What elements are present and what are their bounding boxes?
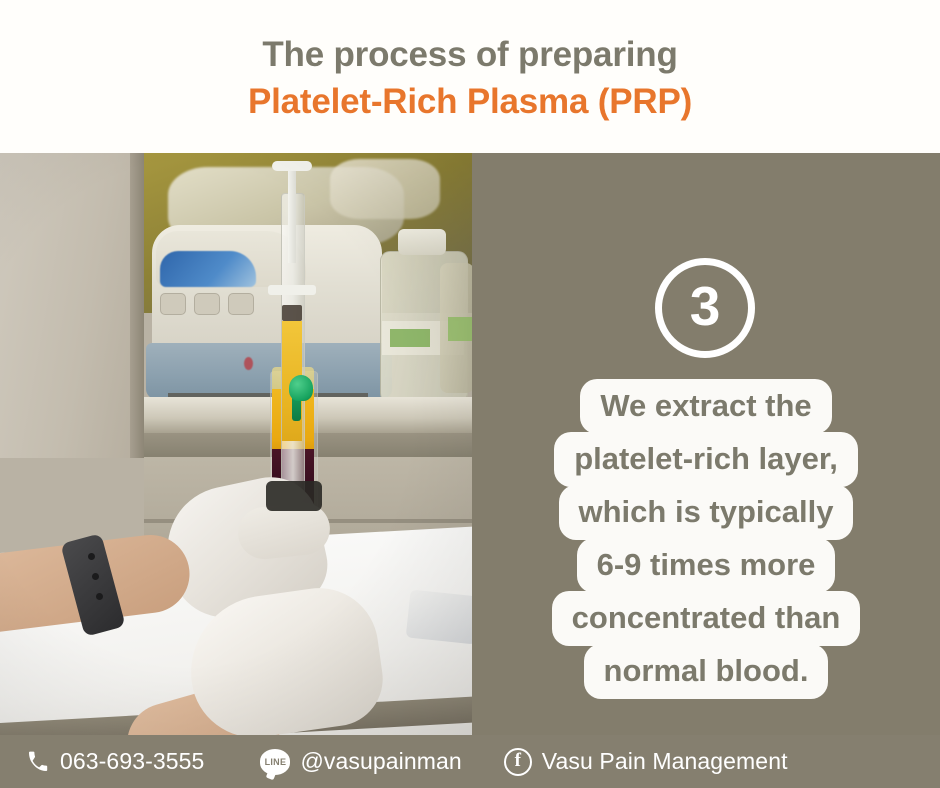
callout-line: 6-9 times more bbox=[577, 538, 836, 593]
header-banner: The process of preparing Platelet-Rich P… bbox=[0, 0, 940, 153]
facebook-icon: f bbox=[504, 748, 532, 776]
step-number-badge: 3 bbox=[655, 258, 755, 358]
line-icon-label: LINE bbox=[265, 757, 287, 767]
procedure-photo bbox=[0, 153, 472, 735]
callout-line: which is typically bbox=[559, 485, 854, 540]
facebook-icon-label: f bbox=[515, 751, 521, 770]
photo-vignette bbox=[0, 153, 472, 735]
facebook-page-name: Vasu Pain Management bbox=[542, 748, 788, 775]
phone-number: 063-693-3555 bbox=[60, 748, 204, 775]
contact-phone[interactable]: 063-693-3555 bbox=[26, 748, 204, 775]
contact-facebook[interactable]: f Vasu Pain Management bbox=[504, 748, 788, 776]
line-id: @vasupainman bbox=[300, 748, 461, 775]
line-icon: LINE bbox=[260, 749, 290, 775]
phone-icon bbox=[26, 750, 50, 774]
header-title-line1: The process of preparing bbox=[262, 35, 677, 76]
callout-text-block: We extract the platelet-rich layer, whic… bbox=[486, 380, 926, 698]
header-title-line2: Platelet-Rich Plasma (PRP) bbox=[248, 82, 692, 123]
callout-line: platelet-rich layer, bbox=[554, 432, 858, 487]
callout-line: concentrated than bbox=[552, 591, 861, 646]
step-number: 3 bbox=[690, 279, 721, 334]
contact-footer: 063-693-3555 LINE @vasupainman f Vasu Pa… bbox=[0, 735, 940, 788]
infographic-canvas: The process of preparing Platelet-Rich P… bbox=[0, 0, 940, 788]
callout-line: We extract the bbox=[580, 379, 831, 434]
contact-line[interactable]: LINE @vasupainman bbox=[260, 748, 461, 775]
callout-line: normal blood. bbox=[584, 644, 829, 699]
